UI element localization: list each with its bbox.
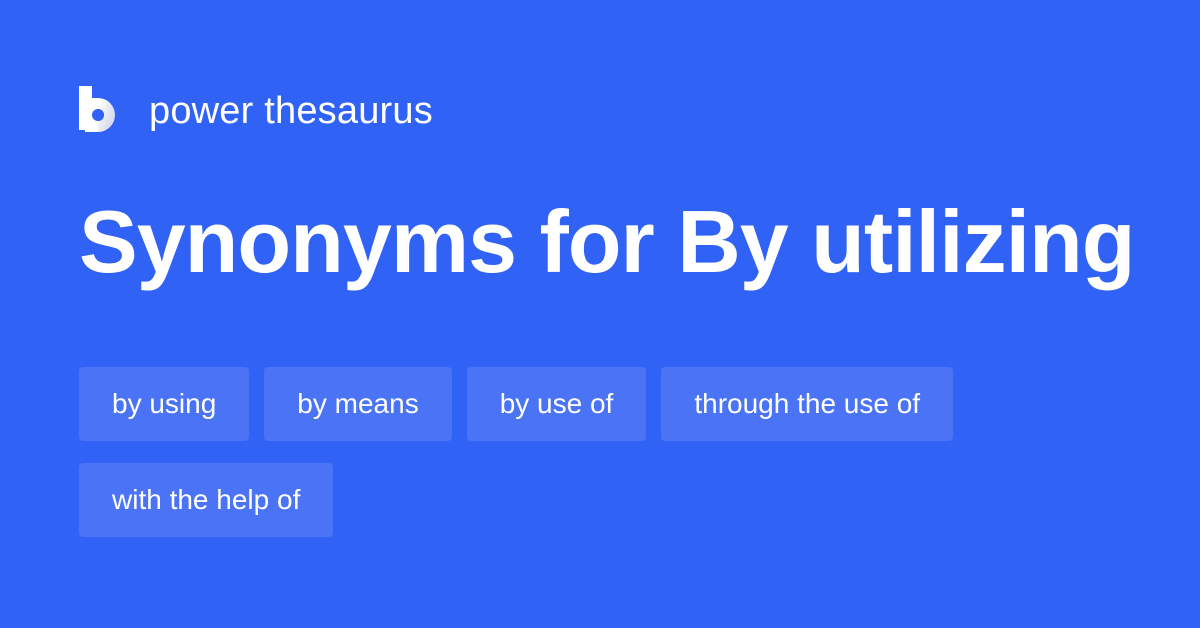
synonym-chip[interactable]: through the use of [661, 367, 953, 441]
synonym-chip[interactable]: by use of [467, 367, 647, 441]
synonym-chip[interactable]: with the help of [79, 463, 333, 537]
brand-name: power thesaurus [149, 92, 433, 130]
synonym-chip[interactable]: by means [264, 367, 451, 441]
synonym-chip-list: by using by means by use of through the … [79, 367, 1124, 537]
synonym-chip[interactable]: by using [79, 367, 249, 441]
synonyms-share-card: power thesaurus Synonyms for By utilizin… [0, 0, 1200, 628]
power-thesaurus-b-logo-icon [79, 86, 123, 136]
brand-logo[interactable]: power thesaurus [79, 84, 433, 138]
page-title: Synonyms for By utilizing [79, 198, 1135, 286]
